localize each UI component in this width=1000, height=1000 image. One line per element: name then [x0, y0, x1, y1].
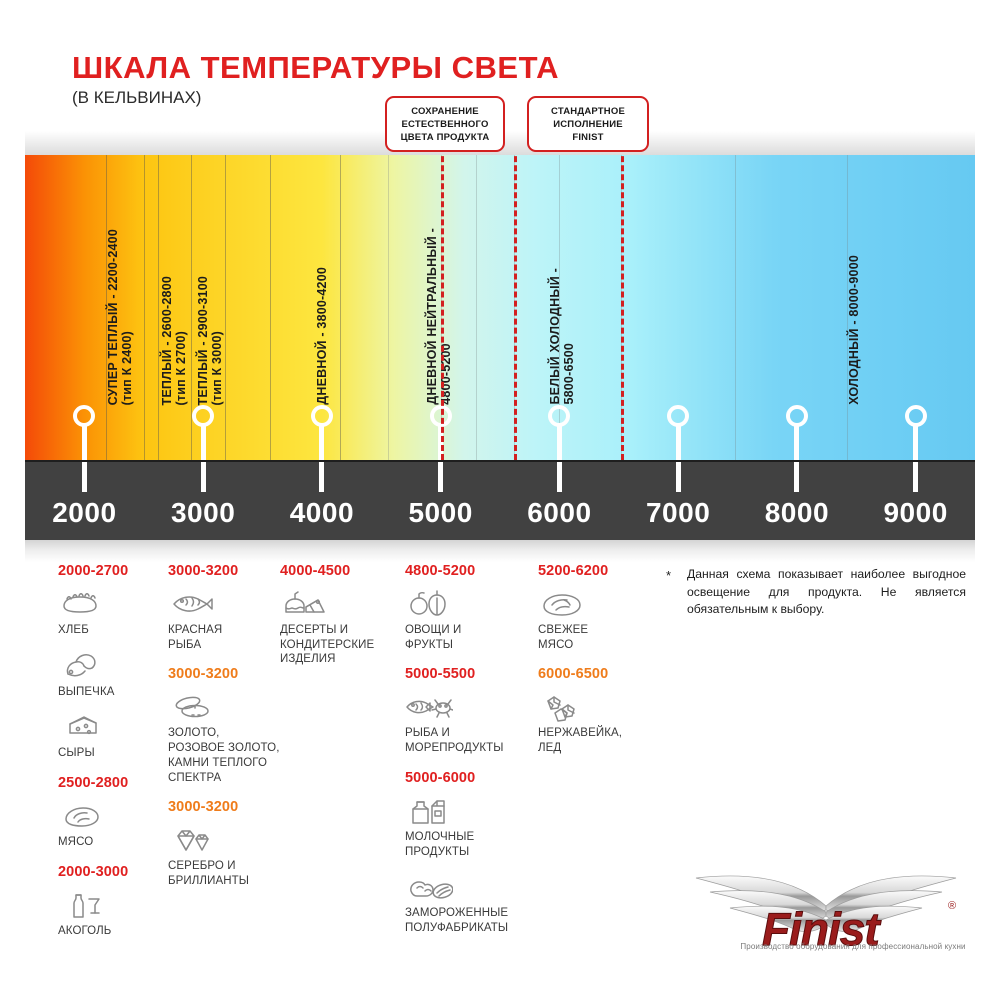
callout-line: ЦВЕТА ПРОДУКТА [393, 131, 497, 144]
legend-item-icon-wrap [405, 793, 530, 827]
marker-ring [905, 405, 927, 427]
legend-item-label: СЕРЕБРО И БРИЛЛИАНТЫ [168, 859, 280, 888]
diamond-icon [168, 822, 216, 856]
axis-tick-label: 2000 [52, 497, 116, 529]
legend-item-label: СЫРЫ [58, 746, 166, 761]
band-label-line2: (тип К 2400) [120, 229, 134, 405]
legend-item-icon-wrap [58, 887, 166, 921]
scale-marker [667, 405, 689, 460]
band-divider [144, 155, 145, 460]
band-divider [225, 155, 226, 460]
meat-icon [58, 798, 106, 832]
legend-item-label: ДЕСЕРТЫ И КОНДИТЕРСКИЕ ИЗДЕЛИЯ [280, 623, 398, 667]
band-label-line1: ДНЕВНОЙ НЕЙТРАЛЬНЫЙ - [425, 228, 439, 405]
footnote: * Данная схема показывает наиболее выгод… [666, 566, 966, 619]
axis-tick [557, 462, 562, 492]
legend-item-label: НЕРЖАВЕЙКА, ЛЕД [538, 726, 650, 755]
axis-tick-label: 9000 [883, 497, 947, 529]
legend-group: 3000-3200ЗОЛОТО, РОЗОВОЕ ЗОЛОТО, КАМНИ Т… [168, 666, 280, 785]
axis-tick-label: 4000 [290, 497, 354, 529]
axis-tick [319, 462, 324, 492]
band-divider [476, 155, 477, 460]
dairy-icon [405, 793, 453, 827]
alcohol-icon [58, 887, 106, 921]
legend-range-header: 3000-3200 [168, 666, 280, 682]
scale-marker [192, 405, 214, 460]
band-label-line2: 5800-6500 [562, 268, 576, 405]
marker-stem [82, 426, 87, 460]
legend-group: 4800-5200ОВОЩИ И ФРУКТЫ [405, 563, 530, 652]
legend-item: МЯСО [58, 798, 166, 850]
callout-line: FINIST [535, 131, 641, 144]
finist-logo: Finist ® Производство оборудования для п… [676, 872, 976, 958]
legend-item-label: МЯСО [58, 835, 166, 850]
legend-item-label: АКОГОЛЬ [58, 924, 166, 939]
legend-column-3: 4000-4500ДЕСЕРТЫ И КОНДИТЕРСКИЕ ИЗДЕЛИЯ [280, 563, 398, 681]
legend-item-icon-wrap [58, 798, 166, 832]
band-label-line2: (тип К 3000) [210, 276, 224, 405]
legend-range-header: 2000-3000 [58, 864, 166, 880]
callout-line: СОХРАНЕНИЕ [393, 105, 497, 118]
legend-item-icon-wrap [58, 648, 166, 682]
callout-standard-finist: СТАНДАРТНОЕИСПОЛНЕНИЕFINIST [527, 96, 649, 152]
legend-group: 3000-3200СЕРЕБРО И БРИЛЛИАНТЫ [168, 799, 280, 888]
legend-item-icon-wrap [405, 586, 530, 620]
band-divider [388, 155, 389, 460]
band-label: ДНЕВНОЙ НЕЙТРАЛЬНЫЙ -4800-5200 [425, 228, 453, 405]
callout-line: СТАНДАРТНОЕ [535, 105, 641, 118]
callout-line: ИСПОЛНЕНИЕ [535, 118, 641, 131]
page-title: ШКАЛА ТЕМПЕРАТУРЫ СВЕТА [72, 50, 559, 86]
axis-tick-label: 7000 [646, 497, 710, 529]
legend-group: 5200-6200СВЕЖЕЕ МЯСО [538, 563, 650, 652]
band-divider [340, 155, 341, 460]
marker-ring [192, 405, 214, 427]
band-divider [735, 155, 736, 460]
band-label-line1: БЕЛЫЙ ХОЛОДНЫЙ - [548, 268, 562, 405]
band-label-line1: СУПЕР ТЕПЛЫЙ - 2200-2400 [106, 229, 120, 405]
frozen-food-icon [405, 869, 453, 903]
axis-tick-label: 5000 [408, 497, 472, 529]
legend-range-header: 6000-6500 [538, 666, 650, 682]
cheese-icon [58, 709, 106, 743]
band-divider [158, 155, 159, 460]
legend-item: АКОГОЛЬ [58, 887, 166, 939]
axis-tick [913, 462, 918, 492]
color-temperature-scale: СУПЕР ТЕПЛЫЙ - 2200-2400(тип К 2400)ТЕПЛ… [25, 155, 975, 460]
fruits-vegetables-icon [405, 586, 453, 620]
band-label: ДНЕВНОЙ - 3800-4200 [315, 267, 329, 405]
axis-tick [82, 462, 87, 492]
legend-group: 3000-3200КРАСНАЯ РЫБА [168, 563, 280, 652]
legend-column-4: 4800-5200ОВОЩИ И ФРУКТЫ5000-5500РЫБА И М… [405, 563, 530, 950]
legend-column-1: 2000-2700ХЛЕБВЫПЕЧКАСЫРЫ2500-2800МЯСО200… [58, 563, 166, 953]
marker-stem [794, 426, 799, 460]
logo-registered-mark: ® [948, 900, 956, 912]
band-label-line1: ХОЛОДНЫЙ - 8000-9000 [847, 255, 861, 405]
fish-crab-icon [405, 689, 453, 723]
callout-line: ЕСТЕСТВЕННОГО [393, 118, 497, 131]
legend-item: СЕРЕБРО И БРИЛЛИАНТЫ [168, 822, 280, 888]
footnote-asterisk: * [666, 567, 671, 586]
legend-item-icon-wrap [405, 869, 530, 903]
marker-ring [786, 405, 808, 427]
legend-item-label: МОЛОЧНЫЕ ПРОДУКТЫ [405, 830, 530, 859]
legend-range-header: 2000-2700 [58, 563, 166, 579]
legend-group: 4000-4500ДЕСЕРТЫ И КОНДИТЕРСКИЕ ИЗДЕЛИЯ [280, 563, 398, 667]
legend-item-icon-wrap [58, 586, 166, 620]
legend-range-header: 5200-6200 [538, 563, 650, 579]
band-label: ХОЛОДНЫЙ - 8000-9000 [847, 255, 861, 405]
callout-dashed-line [514, 155, 517, 460]
legend-item-icon-wrap [538, 689, 650, 723]
marker-ring [667, 405, 689, 427]
footnote-text: Данная схема показывает наиболее выгодно… [687, 566, 966, 619]
legend-item-label: ЗАМОРОЖЕННЫЕ ПОЛУФАБРИКАТЫ [405, 906, 530, 935]
legend-range-header: 2500-2800 [58, 775, 166, 791]
band-label-line1: ТЕПЛЫЙ - 2900-3100 [196, 276, 210, 405]
legend-item: КРАСНАЯ РЫБА [168, 586, 280, 652]
marker-ring [311, 405, 333, 427]
band-label-line2: (тип К 2700) [174, 276, 188, 405]
legend-item-label: ЗОЛОТО, РОЗОВОЕ ЗОЛОТО, КАМНИ ТЕПЛОГО СП… [168, 726, 280, 785]
marker-stem [201, 426, 206, 460]
marker-ring [548, 405, 570, 427]
legend-item-icon-wrap [405, 689, 530, 723]
legend-item: СЫРЫ [58, 709, 166, 761]
scale-marker [548, 405, 570, 460]
legend-item-icon-wrap [58, 709, 166, 743]
legend-group: 6000-6500НЕРЖАВЕЙКА, ЛЕД [538, 666, 650, 755]
legend-item-icon-wrap [280, 586, 398, 620]
legend-item-icon-wrap [168, 586, 280, 620]
infographic-page: ШКАЛА ТЕМПЕРАТУРЫ СВЕТА (В КЕЛЬВИНАХ) СО… [0, 0, 1000, 1000]
page-subtitle: (В КЕЛЬВИНАХ) [72, 88, 201, 108]
legend-item-label: РЫБА И МОРЕПРОДУКТЫ [405, 726, 530, 755]
scale-marker [905, 405, 927, 460]
callout-dashed-line [621, 155, 624, 460]
marker-stem [676, 426, 681, 460]
marker-stem [557, 426, 562, 460]
legend-item: РЫБА И МОРЕПРОДУКТЫ [405, 689, 530, 755]
band-label: ТЕПЛЫЙ - 2900-3100(тип К 3000) [196, 276, 224, 405]
gold-rings-icon [168, 689, 216, 723]
legend-item-label: КРАСНАЯ РЫБА [168, 623, 280, 652]
legend-item-label: СВЕЖЕЕ МЯСО [538, 623, 650, 652]
legend-item: ОВОЩИ И ФРУКТЫ [405, 586, 530, 652]
legend-item: ХЛЕБ [58, 586, 166, 638]
logo-tagline: Производство оборудования для профессион… [728, 942, 978, 951]
legend-item-label: ОВОЩИ И ФРУКТЫ [405, 623, 530, 652]
band-label: БЕЛЫЙ ХОЛОДНЫЙ -5800-6500 [548, 268, 576, 405]
axis-tick [794, 462, 799, 492]
axis-tick [676, 462, 681, 492]
legend-column-2: 3000-3200КРАСНАЯ РЫБА3000-3200ЗОЛОТО, РО… [168, 563, 280, 903]
band-label: ТЕПЛЫЙ - 2600-2800(тип К 2700) [160, 276, 188, 405]
legend-range-header: 3000-3200 [168, 563, 280, 579]
legend-group: 2500-2800МЯСО [58, 775, 166, 850]
legend-item: ДЕСЕРТЫ И КОНДИТЕРСКИЕ ИЗДЕЛИЯ [280, 586, 398, 667]
legend-item-icon-wrap [168, 822, 280, 856]
scale-marker [73, 405, 95, 460]
bottom-fade-band [25, 540, 975, 562]
axis-tick [438, 462, 443, 492]
legend-item: МОЛОЧНЫЕ ПРОДУКТЫ [405, 793, 530, 859]
legend-column-5: 5200-6200СВЕЖЕЕ МЯСО6000-6500НЕРЖАВЕЙКА,… [538, 563, 650, 770]
legend-range-header: 4800-5200 [405, 563, 530, 579]
axis-tick-label: 3000 [171, 497, 235, 529]
band-label-line1: ДНЕВНОЙ - 3800-4200 [315, 267, 329, 405]
axis-tick-label: 6000 [527, 497, 591, 529]
legend-range-header: 3000-3200 [168, 799, 280, 815]
kelvin-axis-bar: 20003000400050006000700080009000 [25, 460, 975, 540]
legend-group: 2000-3000АКОГОЛЬ [58, 864, 166, 939]
legend-group: 5000-5500РЫБА И МОРЕПРОДУКТЫ [405, 666, 530, 755]
legend-item-label: ВЫПЕЧКА [58, 685, 166, 700]
legend-item-icon-wrap [538, 586, 650, 620]
legend-item: ЗАМОРОЖЕННЫЕ ПОЛУФАБРИКАТЫ [405, 869, 530, 935]
legend-group: 2000-2700ХЛЕБВЫПЕЧКАСЫРЫ [58, 563, 166, 761]
marker-ring [73, 405, 95, 427]
legend-item: СВЕЖЕЕ МЯСО [538, 586, 650, 652]
legend-range-header: 5000-6000 [405, 770, 530, 786]
axis-tick [201, 462, 206, 492]
legend-item: ЗОЛОТО, РОЗОВОЕ ЗОЛОТО, КАМНИ ТЕПЛОГО СП… [168, 689, 280, 785]
bread-icon [58, 586, 106, 620]
scale-marker [786, 405, 808, 460]
callout-dashed-line [441, 155, 444, 460]
band-divider [270, 155, 271, 460]
legend-item: НЕРЖАВЕЙКА, ЛЕД [538, 689, 650, 755]
steel-ice-icon [538, 689, 586, 723]
pastry-icon [58, 648, 106, 682]
legend-item-icon-wrap [168, 689, 280, 723]
callout-natural-color: СОХРАНЕНИЕЕСТЕСТВЕННОГОЦВЕТА ПРОДУКТА [385, 96, 505, 152]
dessert-cake-icon [280, 586, 328, 620]
legend-range-header: 4000-4500 [280, 563, 398, 579]
scale-marker [311, 405, 333, 460]
legend-group: 5000-6000МОЛОЧНЫЕ ПРОДУКТЫЗАМОРОЖЕННЫЕ П… [405, 770, 530, 936]
legend-item-label: ХЛЕБ [58, 623, 166, 638]
legend-range-header: 5000-5500 [405, 666, 530, 682]
marker-stem [319, 426, 324, 460]
band-label-line1: ТЕПЛЫЙ - 2600-2800 [160, 276, 174, 405]
red-fish-icon [168, 586, 216, 620]
band-label: СУПЕР ТЕПЛЫЙ - 2200-2400(тип К 2400) [106, 229, 134, 405]
marker-stem [913, 426, 918, 460]
axis-tick-label: 8000 [765, 497, 829, 529]
fresh-meat-icon [538, 586, 586, 620]
legend-item: ВЫПЕЧКА [58, 648, 166, 700]
